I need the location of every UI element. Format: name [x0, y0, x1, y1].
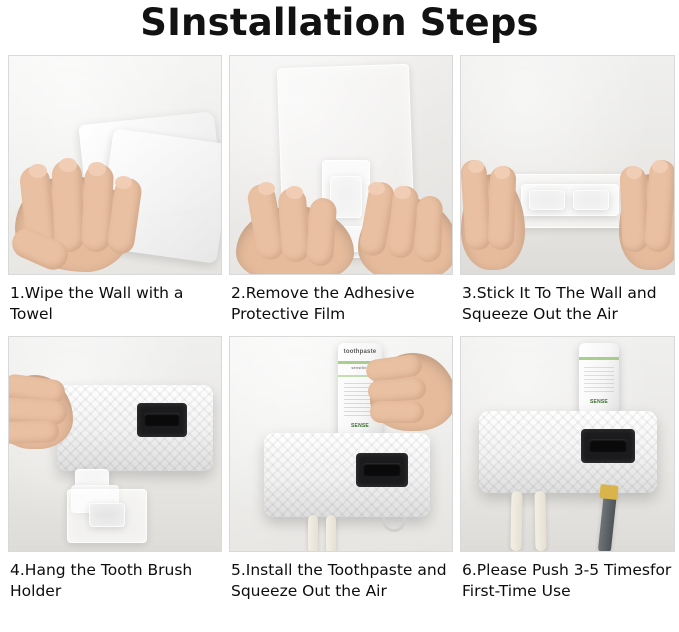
- step-image-2: [229, 55, 453, 275]
- step-image-4: [8, 336, 222, 552]
- page-title: SInstallation Steps: [0, 0, 679, 41]
- step-caption-1: 1.Wipe the Wall with a Towel: [8, 275, 222, 324]
- step-image-3: [460, 55, 675, 275]
- step-card-3: 3.Stick It To The Wall and Squeeze Out t…: [460, 55, 675, 324]
- toothpaste-seal-label: SENSE: [338, 423, 382, 429]
- steps-grid: 1.Wipe the Wall with a Towel: [0, 55, 679, 601]
- toothpaste-tube-mounted: SENSE: [579, 343, 619, 417]
- step-image-1: [8, 55, 222, 275]
- step-caption-6: 6.Please Push 3-5 Timesfor First-Time Us…: [460, 552, 675, 601]
- step-card-6: SENSE 6.Please Push 3-5 Timesfor First-T…: [460, 336, 675, 601]
- toothpaste-brand-label: toothpaste: [338, 349, 382, 355]
- toothpaste-seal-label-2: SENSE: [579, 399, 619, 405]
- step-caption-2: 2.Remove the Adhesive Protective Film: [229, 275, 453, 324]
- step-caption-3: 3.Stick It To The Wall and Squeeze Out t…: [460, 275, 675, 324]
- step-image-5: toothpaste sensitive SENSE: [229, 336, 453, 552]
- brush-head-icon: [599, 484, 618, 500]
- step-card-2: 2.Remove the Adhesive Protective Film: [229, 55, 453, 324]
- installation-steps-page: SInstallation Steps 1: [0, 0, 679, 632]
- step-card-5: toothpaste sensitive SENSE: [229, 336, 453, 601]
- step-caption-4: 4.Hang the Tooth Brush Holder: [8, 552, 222, 601]
- step-caption-5: 5.Install the Toothpaste and Squeeze Out…: [229, 552, 453, 601]
- step-card-1: 1.Wipe the Wall with a Towel: [8, 55, 222, 324]
- step-image-6: SENSE: [460, 336, 675, 552]
- step-card-4: 4.Hang the Tooth Brush Holder: [8, 336, 222, 601]
